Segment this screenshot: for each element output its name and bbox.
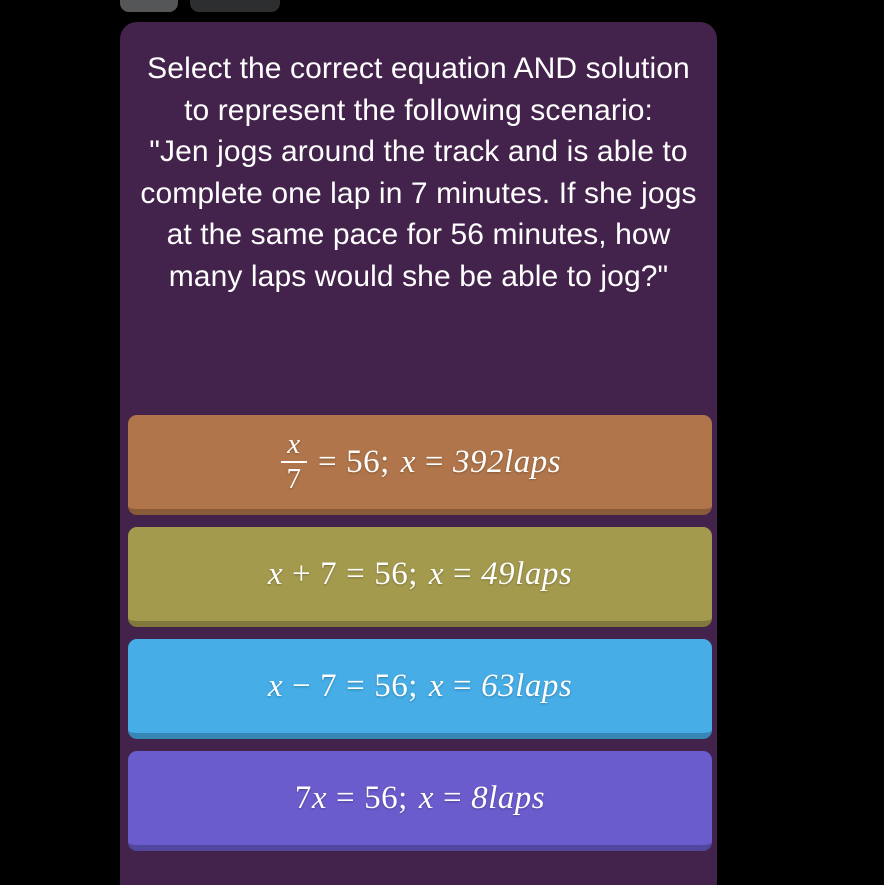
solution-value: 63laps: [481, 670, 572, 703]
variable-2: x: [419, 782, 434, 815]
equals-sign-2: =: [444, 558, 481, 591]
variable-1: x: [268, 558, 283, 591]
variable-2: x: [429, 670, 444, 703]
solution-value: 8laps: [471, 782, 545, 815]
right-value-1: 56: [364, 782, 398, 815]
variable-2: x: [429, 558, 444, 591]
answer-option-c[interactable]: x − 7 = 56 ; x = 63laps: [128, 639, 712, 739]
right-value-1: 56: [374, 670, 408, 703]
answer-option-d[interactable]: 7 x = 56 ; x = 8laps: [128, 751, 712, 851]
answer-option-d-text: 7 x = 56 ; x = 8laps: [295, 782, 545, 815]
question-prompt: Select the correct equation AND solution…: [138, 48, 699, 131]
operand: 7: [320, 670, 337, 703]
right-value-1: 56: [374, 558, 408, 591]
semicolon: ;: [408, 670, 429, 703]
answer-options-list: x 7 = 56 ; x = 392laps x + 7 = 56 ;: [128, 415, 712, 851]
equals-sign-1: =: [309, 446, 346, 479]
right-value-1: 56: [346, 446, 380, 479]
question-scenario: "Jen jogs around the track and is able t…: [138, 131, 699, 297]
equals-sign-1: =: [337, 670, 374, 703]
fraction-numerator: x: [287, 430, 300, 461]
coefficient: 7: [295, 782, 312, 815]
variable-1: x: [312, 782, 327, 815]
semicolon: ;: [408, 558, 429, 591]
equals-sign-2: =: [444, 670, 481, 703]
answer-option-a-text: x 7 = 56 ; x = 392laps: [279, 430, 561, 494]
equals-sign-1: =: [327, 782, 364, 815]
equals-sign-2: =: [434, 782, 471, 815]
operand: 7: [320, 558, 337, 591]
variable-1: x: [268, 670, 283, 703]
quiz-question-card: Select the correct equation AND solution…: [120, 22, 717, 885]
equals-sign-1: =: [337, 558, 374, 591]
solution-value: 49laps: [481, 558, 572, 591]
solution-value: 392laps: [453, 446, 561, 479]
answer-option-c-text: x − 7 = 56 ; x = 63laps: [268, 670, 572, 703]
semicolon: ;: [398, 782, 419, 815]
equals-sign-2: =: [416, 446, 453, 479]
answer-option-b[interactable]: x + 7 = 56 ; x = 49laps: [128, 527, 712, 627]
tab-chip-active[interactable]: [120, 0, 178, 12]
browser-chrome-bar: [0, 0, 884, 14]
plus-operator: +: [283, 558, 320, 591]
fraction: x 7: [279, 430, 309, 494]
fraction-denominator: 7: [286, 463, 301, 495]
tab-chip-inactive[interactable]: [190, 0, 280, 12]
minus-operator: −: [283, 670, 320, 703]
variable: x: [401, 446, 416, 479]
question-block: Select the correct equation AND solution…: [120, 22, 717, 297]
semicolon: ;: [380, 446, 401, 479]
answer-option-a[interactable]: x 7 = 56 ; x = 392laps: [128, 415, 712, 515]
answer-option-b-text: x + 7 = 56 ; x = 49laps: [268, 558, 572, 591]
